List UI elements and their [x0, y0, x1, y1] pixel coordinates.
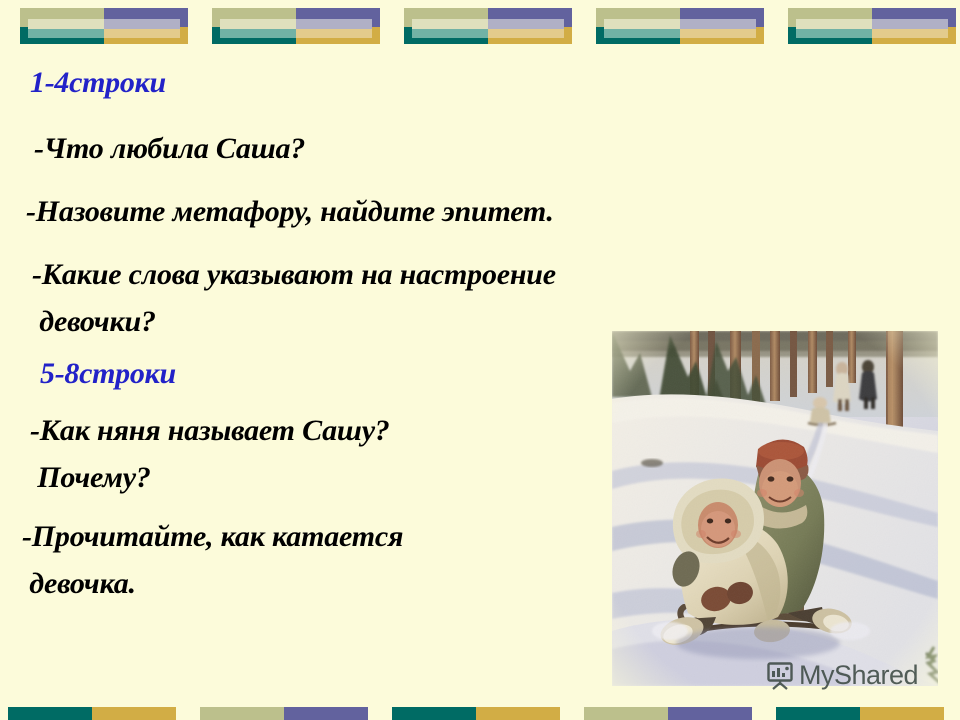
deco-layer-gold-light: [296, 29, 372, 38]
deco-layer-teal-light: [28, 29, 104, 38]
deco-block-purple: [668, 707, 752, 720]
deco-layer-olive-light: [28, 19, 104, 29]
deco-layer-gold-light: [680, 29, 756, 38]
deco-half-purple-gold: [680, 8, 764, 44]
deco-layer-purple-light: [296, 19, 372, 29]
deco-half-olive-teal: [404, 8, 488, 44]
deco-layer-gold-light: [104, 29, 180, 38]
deco-half-purple-gold: [488, 8, 572, 44]
deco-half-olive-teal: [20, 8, 104, 44]
deco-unit-top: [212, 8, 380, 44]
deco-unit-bottom: [584, 707, 752, 720]
deco-block-teal: [8, 707, 92, 720]
myshared-watermark: MyShared: [766, 658, 918, 692]
deco-layer-gold-light: [488, 29, 564, 38]
question-line: -Как няня называет Сашу?: [30, 414, 390, 448]
presentation-board-icon: [766, 660, 794, 690]
deco-block-olive: [200, 707, 284, 720]
deco-layer-olive-light: [796, 19, 872, 29]
deco-block-gold: [476, 707, 560, 720]
section-heading: 1-4строки: [30, 66, 166, 100]
deco-layer-teal-light: [604, 29, 680, 38]
deco-unit-top: [596, 8, 764, 44]
deco-unit-bottom: [200, 707, 368, 720]
deco-layer-teal-light: [412, 29, 488, 38]
deco-layer-purple-light: [488, 19, 564, 29]
deco-half-purple-gold: [296, 8, 380, 44]
deco-layer-gold-light: [872, 29, 948, 38]
deco-unit-top: [20, 8, 188, 44]
deco-block-gold: [860, 707, 944, 720]
deco-block-olive: [584, 707, 668, 720]
deco-layer-olive-light: [412, 19, 488, 29]
deco-unit-bottom: [392, 707, 560, 720]
deco-block-purple: [284, 707, 368, 720]
deco-half-olive-teal: [596, 8, 680, 44]
question-line: -Что любила Саша?: [34, 132, 305, 166]
section-heading: 5-8строки: [40, 357, 176, 391]
deco-unit-bottom: [776, 707, 944, 720]
deco-layer-purple-light: [680, 19, 756, 29]
deco-half-purple-gold: [104, 8, 188, 44]
deco-half-purple-gold: [872, 8, 956, 44]
deco-half-olive-teal: [212, 8, 296, 44]
deco-block-gold: [92, 707, 176, 720]
question-line: -Назовите метафору, найдите эпитет.: [26, 195, 554, 229]
deco-block-teal: [392, 707, 476, 720]
question-line: девочки?: [32, 305, 156, 339]
deco-layer-teal-light: [796, 29, 872, 38]
deco-unit-top: [788, 8, 956, 44]
question-line: девочка.: [22, 567, 136, 601]
deco-half-olive-teal: [788, 8, 872, 44]
illustration-canvas: [612, 331, 938, 686]
deco-unit-bottom: [8, 707, 176, 720]
deco-block-teal: [776, 707, 860, 720]
watermark-label: MyShared: [799, 660, 918, 691]
question-line: -Прочитайте, как катается: [22, 520, 403, 554]
deco-layer-olive-light: [220, 19, 296, 29]
sledding-children-illustration: [612, 331, 938, 686]
question-line: -Какие слова указывают на настроение: [32, 258, 556, 292]
deco-unit-top: [404, 8, 572, 44]
deco-layer-purple-light: [104, 19, 180, 29]
top-decorative-border: [0, 0, 960, 52]
deco-layer-purple-light: [872, 19, 948, 29]
deco-layer-olive-light: [604, 19, 680, 29]
bottom-decorative-border: [0, 698, 960, 720]
question-line: Почему?: [30, 461, 151, 495]
deco-layer-teal-light: [220, 29, 296, 38]
